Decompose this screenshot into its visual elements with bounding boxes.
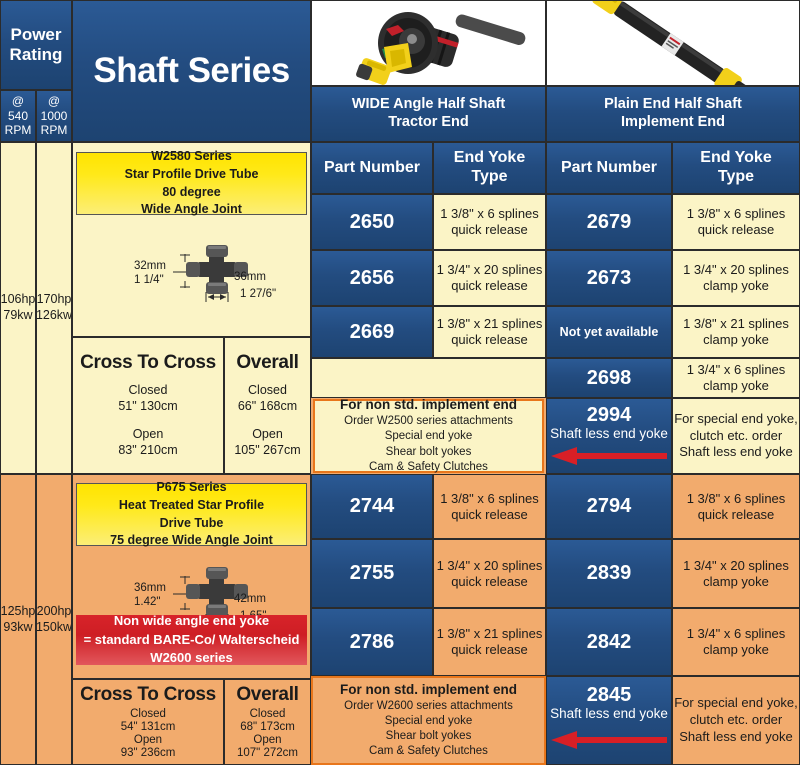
- product-title-right-line2: Implement End: [621, 114, 725, 132]
- shaft-series-spec-table: Power Rating @ 540 RPM @ 1000 RPM Shaft …: [0, 0, 800, 765]
- power-hp: 170hp: [37, 292, 72, 308]
- part-number-value: 2673: [587, 267, 632, 289]
- universal-joint-cross-icon: 32mm 1 1/4" 36mm 1 27/6": [128, 226, 308, 302]
- non-std-line-3: Shear bolt yokes: [386, 445, 472, 460]
- closed-value: 66" 168cm: [238, 398, 297, 414]
- yoke-line-1: 1 3/4" x 20 splines: [437, 558, 543, 574]
- non-wide-angle-warning-box: Non wide angle end yoke = standard BARE-…: [76, 615, 307, 665]
- part-number-value: Not yet available: [560, 325, 659, 339]
- product-title-right: Plain End Half Shaft Implement End: [546, 86, 800, 142]
- wide-angle-half-shaft-icon: [312, 1, 546, 86]
- power-rating-540-w2580: 106hp 79kw: [0, 142, 36, 474]
- closed-label: Closed: [250, 708, 286, 721]
- table-row-part-number: 2698: [546, 358, 672, 398]
- power-rating-540-p675: 125hp 93kw: [0, 474, 36, 765]
- closed-label: Closed: [130, 708, 166, 721]
- yoke-line-1: 1 3/4" x 6 splines: [687, 626, 786, 642]
- series-line-2: Star Profile Drive Tube: [125, 166, 259, 184]
- open-value: 107" 272cm: [237, 747, 298, 760]
- left-arrow-icon: [549, 445, 669, 467]
- series-box-w2580: W2580 Series Star Profile Drive Tube 80 …: [76, 152, 307, 215]
- series-line-4: Wide Angle Joint: [141, 201, 242, 219]
- non-std-line-1: Order W2500 series attachments: [344, 414, 513, 429]
- table-row-yoke-type: 1 3/8" x 6 splines quick release: [672, 194, 800, 250]
- closed-value: 54" 131cm: [121, 721, 176, 734]
- open-label: Open: [253, 734, 281, 747]
- yoke-line-2: clamp yoke: [703, 278, 769, 294]
- product-title-left: WIDE Angle Half Shaft Tractor End: [311, 86, 546, 142]
- table-row-part-number: 2786: [311, 608, 433, 676]
- table-row-part-number: 2673: [546, 250, 672, 306]
- open-value: 83" 210cm: [118, 442, 177, 458]
- closed-label: Closed: [129, 382, 168, 398]
- product-title-left-line1: WIDE Angle Half Shaft: [352, 96, 505, 114]
- table-row-part-number: 2650: [311, 194, 433, 250]
- page-title: Shaft Series: [72, 0, 311, 142]
- dim-horizontal-in-label: 1 27/6": [240, 288, 276, 300]
- open-label: Open: [133, 426, 164, 442]
- power-rating-line1: Power: [10, 25, 61, 45]
- table-row-yoke-type: 1 3/4" x 20 splines quick release: [433, 250, 546, 306]
- open-label: Open: [252, 426, 283, 442]
- power-kw: 150kw: [36, 620, 72, 636]
- part-number-value: 2650: [350, 211, 395, 233]
- yoke-line-1: 1 3/8" x 6 splines: [440, 206, 539, 222]
- yoke-line-2: quick release: [698, 222, 775, 238]
- warning-line-3: W2600 series: [150, 649, 232, 667]
- special-note-line-1: For special end yoke,: [674, 695, 798, 712]
- dim-horizontal-mm-label: 36mm: [234, 271, 266, 283]
- shaft-less-end-yoke-p675: 2845 Shaft less end yoke: [546, 676, 672, 765]
- column-header-end-yoke-implement: End Yoke Type: [672, 142, 800, 194]
- rpm-1000-value: 1000: [41, 109, 68, 124]
- column-header-label: Part Number: [324, 159, 420, 178]
- power-hp: 200hp: [37, 604, 72, 620]
- non-std-line-1: Order W2600 series attachments: [344, 699, 513, 714]
- table-row-yoke-type: 1 3/8" x 6 splines quick release: [433, 194, 546, 250]
- overall-title: Overall: [236, 352, 298, 373]
- table-row-part-number-unavailable: Not yet available: [546, 306, 672, 358]
- special-note-line-2: clutch etc. order: [690, 712, 783, 729]
- table-row-yoke-type: 1 3/8" x 6 splines quick release: [672, 474, 800, 539]
- yoke-line-1: 1 3/8" x 6 splines: [687, 491, 786, 507]
- table-row-part-number: 2794: [546, 474, 672, 539]
- rpm-1000-at: @: [48, 94, 60, 109]
- table-row-yoke-type: 1 3/4" x 6 splines clamp yoke: [672, 358, 800, 398]
- table-row-part-number: 2679: [546, 194, 672, 250]
- column-header-label: Part Number: [561, 159, 657, 178]
- cross-to-cross-p675: Cross To Cross Closed 54" 131cm Open 93"…: [72, 679, 224, 765]
- warning-line-1: Non wide angle end yoke: [114, 612, 269, 630]
- column-header-end-yoke-tractor: End Yoke Type: [433, 142, 546, 194]
- yoke-line-2: quick release: [451, 332, 528, 348]
- product-title-left-line2: Tractor End: [388, 114, 469, 132]
- part-number-value: 2794: [587, 495, 632, 517]
- closed-value: 68" 173cm: [240, 721, 295, 734]
- yoke-line-1: 1 3/8" x 21 splines: [437, 316, 543, 332]
- open-value: 93" 236cm: [121, 747, 176, 760]
- part-number-value: 2842: [587, 631, 632, 653]
- power-kw: 93kw: [3, 620, 32, 636]
- table-row-part-number: 2842: [546, 608, 672, 676]
- yoke-line-1: 1 3/4" x 20 splines: [683, 558, 789, 574]
- dim-vertical-in-label: 1.42": [134, 596, 160, 608]
- yoke-line-2: quick release: [451, 642, 528, 658]
- shaft-less-end-yoke-label: Shaft less end yoke: [550, 426, 668, 442]
- table-row-part-number: 2839: [546, 539, 672, 608]
- closed-label: Closed: [248, 382, 287, 398]
- part-number-value: 2679: [587, 211, 632, 233]
- yoke-line-2: quick release: [451, 222, 528, 238]
- series-line-2: Heat Treated Star Profile: [119, 497, 264, 515]
- power-rating-1000-w2580: 170hp 126kw: [36, 142, 72, 474]
- non-std-heading: For non std. implement end: [340, 682, 517, 697]
- overall-w2580: Overall Closed 66" 168cm Open 105" 267cm: [224, 337, 311, 474]
- part-number-value: 2994: [587, 404, 632, 426]
- shaft-less-end-yoke-w2580: 2994 Shaft less end yoke: [546, 398, 672, 474]
- non-std-implement-end-w2580: For non std. implement end Order W2500 s…: [313, 399, 544, 473]
- power-rating-1000-p675: 200hp 150kw: [36, 474, 72, 765]
- table-row-yoke-type: 1 3/8" x 21 splines quick release: [433, 306, 546, 358]
- table-row-part-number: 2669: [311, 306, 433, 358]
- special-end-yoke-note-p675: For special end yoke, clutch etc. order …: [672, 676, 800, 765]
- yoke-line-1: 1 3/4" x 20 splines: [437, 262, 543, 278]
- plain-end-half-shaft-icon: [547, 1, 800, 86]
- non-std-line-2: Special end yoke: [385, 429, 473, 444]
- rpm-540-header: @ 540 RPM: [0, 90, 36, 142]
- non-std-line-4: Cam & Safety Clutches: [369, 744, 488, 759]
- non-std-heading: For non std. implement end: [340, 397, 517, 412]
- column-header-part-number-tractor: Part Number: [311, 142, 433, 194]
- special-end-yoke-note-w2580: For special end yoke, clutch etc. order …: [672, 398, 800, 474]
- table-row-yoke-type: 1 3/8" x 21 splines clamp yoke: [672, 306, 800, 358]
- table-row-part-number: 2755: [311, 539, 433, 608]
- yoke-line-2: quick release: [451, 574, 528, 590]
- rpm-540-value: 540: [8, 109, 28, 124]
- dim-vertical-in-label: 1 1/4": [134, 274, 164, 286]
- dim-vertical-mm-label: 36mm: [134, 582, 166, 594]
- yoke-line-1: 1 3/8" x 6 splines: [440, 491, 539, 507]
- part-number-value: 2786: [350, 631, 395, 653]
- product-title-right-line1: Plain End Half Shaft: [604, 96, 742, 114]
- page-title-text: Shaft Series: [93, 51, 289, 90]
- part-number-value: 2656: [350, 267, 395, 289]
- table-row-empty: [311, 358, 546, 398]
- part-number-value: 2669: [350, 321, 395, 343]
- yoke-line-2: clamp yoke: [703, 574, 769, 590]
- series-line-1: P675 Series: [156, 479, 226, 497]
- yoke-line-2: clamp yoke: [703, 378, 769, 394]
- power-rating-line2: Rating: [10, 45, 63, 65]
- shaft-less-end-yoke-label: Shaft less end yoke: [550, 706, 668, 722]
- power-kw: 126kw: [36, 308, 72, 324]
- closed-value: 51" 130cm: [118, 398, 177, 414]
- table-row-part-number: 2656: [311, 250, 433, 306]
- open-label: Open: [134, 734, 162, 747]
- non-std-line-4: Cam & Safety Clutches: [369, 460, 488, 475]
- special-note-line-3: Shaft less end yoke: [679, 444, 792, 461]
- yoke-line-1: 1 3/8" x 6 splines: [687, 206, 786, 222]
- series-line-3: Drive Tube: [160, 515, 224, 533]
- table-row-yoke-type: 1 3/4" x 6 splines clamp yoke: [672, 608, 800, 676]
- part-number-value: 2845: [587, 684, 632, 706]
- yoke-line-1: 1 3/4" x 20 splines: [683, 262, 789, 278]
- series-line-3: 80 degree: [162, 184, 220, 202]
- power-hp: 125hp: [1, 604, 36, 620]
- special-note-line-2: clutch etc. order: [690, 428, 783, 445]
- table-row-yoke-type: 1 3/4" x 20 splines clamp yoke: [672, 539, 800, 608]
- rpm-1000-unit: RPM: [41, 123, 68, 138]
- non-std-implement-end-p675: For non std. implement end Order W2600 s…: [311, 676, 546, 765]
- yoke-line-2: quick release: [451, 278, 528, 294]
- yoke-line-2: quick release: [451, 507, 528, 523]
- cross-to-cross-title: Cross To Cross: [80, 684, 216, 705]
- yoke-line-2: clamp yoke: [703, 332, 769, 348]
- special-note-line-1: For special end yoke,: [674, 411, 798, 428]
- left-arrow-icon: [549, 729, 669, 751]
- overall-title: Overall: [236, 684, 298, 705]
- column-header-label-line1: End Yoke: [454, 149, 525, 168]
- power-kw: 79kw: [3, 308, 32, 324]
- part-number-value: 2839: [587, 562, 632, 584]
- open-value: 105" 267cm: [234, 442, 300, 458]
- special-note-line-3: Shaft less end yoke: [679, 729, 792, 746]
- part-number-value: 2755: [350, 562, 395, 584]
- cross-dimension-diagram-w2580: 32mm 1 1/4" 36mm 1 27/6": [128, 226, 308, 302]
- yoke-line-1: 1 3/8" x 21 splines: [683, 316, 789, 332]
- table-row-yoke-type: 1 3/4" x 20 splines clamp yoke: [672, 250, 800, 306]
- overall-p675: Overall Closed 68" 173cm Open 107" 272cm: [224, 679, 311, 765]
- column-header-label-line2: Type: [471, 168, 507, 187]
- rpm-540-unit: RPM: [5, 123, 32, 138]
- plain-end-half-shaft-photo: [546, 0, 800, 86]
- part-number-value: 2744: [350, 495, 395, 517]
- dim-vertical-mm-label: 32mm: [134, 260, 166, 272]
- yoke-line-2: clamp yoke: [703, 642, 769, 658]
- yoke-line-1: 1 3/8" x 21 splines: [437, 626, 543, 642]
- column-header-part-number-implement: Part Number: [546, 142, 672, 194]
- table-row-yoke-type: 1 3/8" x 6 splines quick release: [433, 474, 546, 539]
- non-std-line-3: Shear bolt yokes: [386, 729, 472, 744]
- yoke-line-1: 1 3/4" x 6 splines: [687, 362, 786, 378]
- rpm-1000-header: @ 1000 RPM: [36, 90, 72, 142]
- dim-horizontal-mm-label: 42mm: [234, 593, 266, 605]
- cross-to-cross-title: Cross To Cross: [80, 352, 216, 373]
- power-rating-header: Power Rating: [0, 0, 72, 90]
- yoke-line-2: quick release: [698, 507, 775, 523]
- warning-line-2: = standard BARE-Co/ Walterscheid: [84, 631, 300, 649]
- cross-to-cross-w2580: Cross To Cross Closed 51" 130cm Open 83"…: [72, 337, 224, 474]
- series-line-1: W2580 Series: [151, 148, 232, 166]
- table-row-yoke-type: 1 3/4" x 20 splines quick release: [433, 539, 546, 608]
- wide-angle-half-shaft-photo: [311, 0, 546, 86]
- table-row-part-number: 2744: [311, 474, 433, 539]
- column-header-label-line1: End Yoke: [700, 149, 771, 168]
- table-row-yoke-type: 1 3/8" x 21 splines quick release: [433, 608, 546, 676]
- series-box-p675: P675 Series Heat Treated Star Profile Dr…: [76, 483, 307, 546]
- part-number-value: 2698: [587, 367, 632, 389]
- rpm-540-at: @: [12, 94, 24, 109]
- column-header-label-line2: Type: [718, 168, 754, 187]
- power-hp: 106hp: [1, 292, 36, 308]
- non-std-line-2: Special end yoke: [385, 714, 473, 729]
